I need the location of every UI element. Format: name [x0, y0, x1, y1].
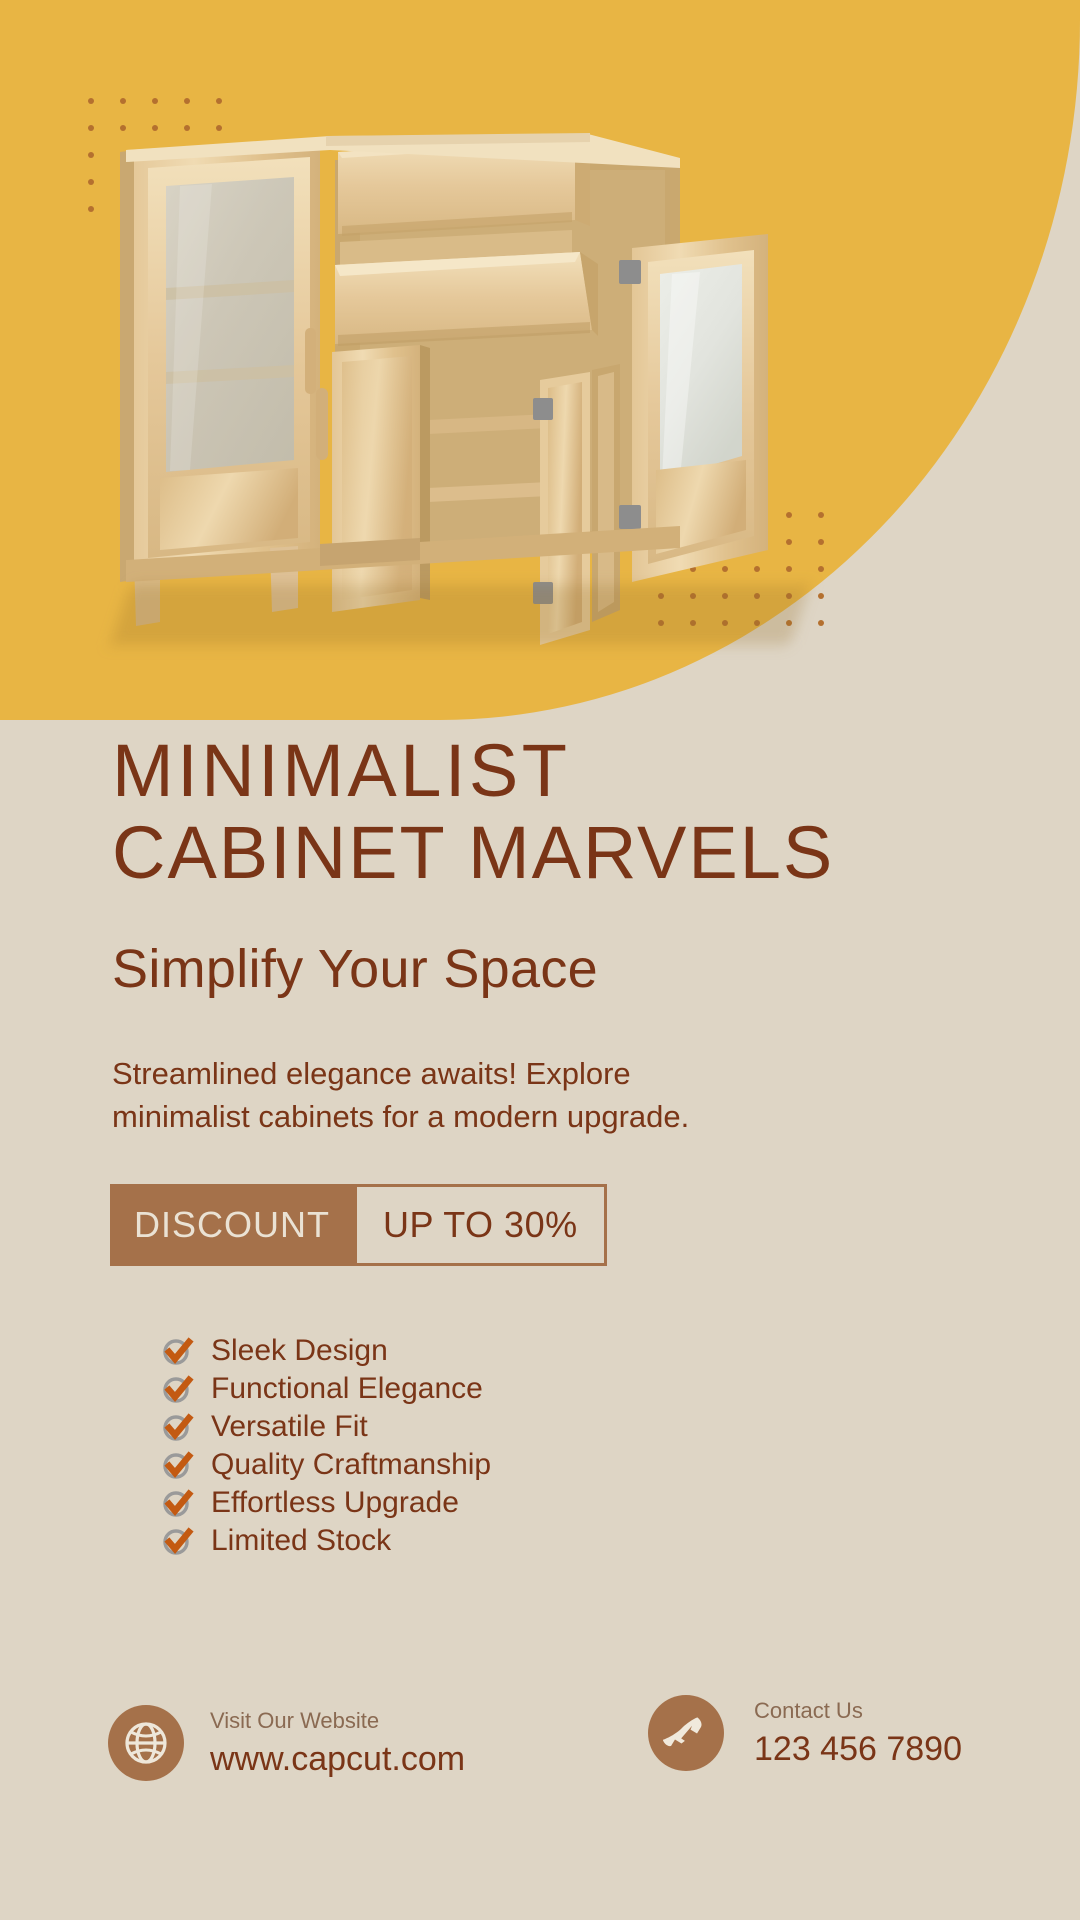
footer-section: Visit Our Website www.capcut.com Contact… [0, 1695, 1080, 1825]
list-item: Functional Elegance [162, 1370, 1080, 1408]
check-circle-icon [162, 1525, 194, 1557]
list-item: Limited Stock [162, 1522, 1080, 1560]
globe-icon [108, 1705, 184, 1781]
dot [88, 98, 94, 104]
check-circle-icon [162, 1373, 194, 1405]
check-circle-icon [162, 1411, 194, 1443]
list-item-label: Limited Stock [211, 1522, 391, 1560]
phone-icon [648, 1695, 724, 1771]
dot [216, 98, 222, 104]
feature-list: Sleek DesignFunctional EleganceVersatile… [162, 1332, 1080, 1560]
description-text: Streamlined elegance awaits! Explore min… [112, 1052, 712, 1138]
check-circle-icon [162, 1449, 194, 1481]
website-caption: Visit Our Website [210, 1708, 465, 1734]
cabinet-illustration [120, 130, 800, 655]
list-item: Quality Craftmanship [162, 1446, 1080, 1484]
list-item: Sleek Design [162, 1332, 1080, 1370]
phone-caption: Contact Us [754, 1698, 962, 1724]
phone-number[interactable]: 123 456 7890 [754, 1730, 962, 1769]
dot [88, 152, 94, 158]
list-item-label: Sleek Design [211, 1332, 388, 1370]
discount-value: UP TO 30% [354, 1184, 607, 1266]
headline-line-1: MINIMALIST [112, 729, 570, 812]
dot [818, 566, 824, 572]
discount-label: DISCOUNT [110, 1184, 354, 1266]
subheadline: Simplify Your Space [112, 938, 1080, 1000]
dot [818, 620, 824, 626]
list-item: Versatile Fit [162, 1408, 1080, 1446]
dot [818, 539, 824, 545]
dot [88, 206, 94, 212]
list-item-label: Functional Elegance [211, 1370, 483, 1408]
check-circle-icon [162, 1335, 194, 1367]
check-circle-icon [162, 1487, 194, 1519]
discount-badge: DISCOUNT UP TO 30% [110, 1184, 658, 1266]
footer-phone[interactable]: Contact Us 123 456 7890 [648, 1695, 962, 1771]
footer-website[interactable]: Visit Our Website www.capcut.com [108, 1705, 465, 1781]
list-item-label: Quality Craftmanship [211, 1446, 491, 1484]
content-section: MINIMALIST CABINET MARVELS Simplify Your… [0, 730, 1080, 1560]
list-item-label: Effortless Upgrade [211, 1484, 459, 1522]
hero-section [0, 0, 1080, 730]
dot [120, 98, 126, 104]
dot [818, 593, 824, 599]
dot [88, 179, 94, 185]
dot [88, 125, 94, 131]
website-url[interactable]: www.capcut.com [210, 1740, 465, 1779]
headline-line-2: CABINET MARVELS [112, 812, 1080, 894]
dot [152, 98, 158, 104]
dot [184, 98, 190, 104]
list-item-label: Versatile Fit [211, 1408, 368, 1446]
cabinet-shadow [110, 585, 809, 645]
list-item: Effortless Upgrade [162, 1484, 1080, 1522]
cabinet-product-image [120, 130, 800, 655]
page-title: MINIMALIST CABINET MARVELS [112, 730, 1080, 894]
dot [818, 512, 824, 518]
